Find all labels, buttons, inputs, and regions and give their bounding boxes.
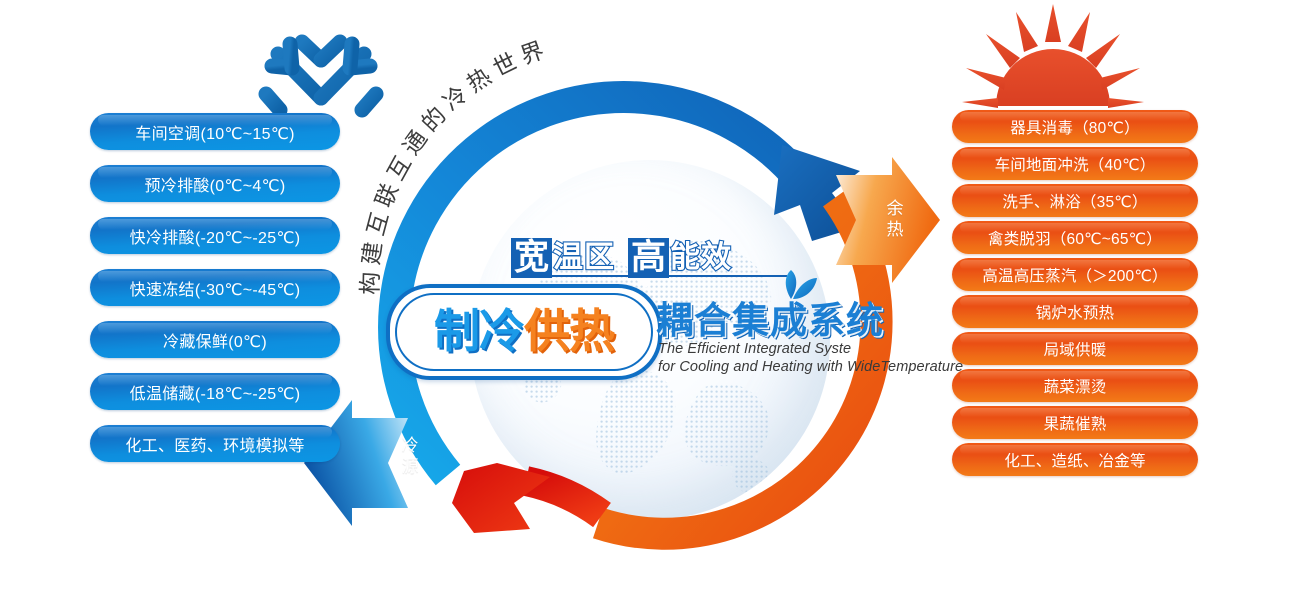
list-item[interactable]: 锅炉水预热 [952, 295, 1198, 328]
headline-text-efficiency: 能效 [669, 238, 733, 278]
pill-label: 快冷排酸(-20℃~-25℃) [130, 224, 301, 248]
badge-text: 制冷供热 [390, 288, 658, 376]
pill-label: 车间地面冲洗（40℃） [995, 153, 1156, 175]
list-item[interactable]: 预冷排酸(0℃~4℃) [90, 165, 340, 202]
headline-char-high: 高 [628, 238, 669, 278]
list-item[interactable]: 快速冻结(-30℃~-45℃) [90, 269, 340, 306]
list-item[interactable]: 车间空调(10℃~15℃) [90, 113, 340, 150]
pill-label: 洗手、淋浴（35℃） [1002, 190, 1147, 212]
pill-label: 化工、造纸、冶金等 [1004, 449, 1145, 471]
english-tagline-line2: for Cooling and Heating with WideTempera… [658, 359, 963, 375]
pill-label: 蔬菜漂烫 [1044, 375, 1107, 397]
list-item[interactable]: 局域供暖 [952, 332, 1198, 365]
pill-label: 预冷排酸(0℃~4℃) [144, 172, 285, 196]
cooling-applications-list: 车间空调(10℃~15℃) 预冷排酸(0℃~4℃) 快冷排酸(-20℃~-25℃… [90, 113, 340, 477]
cooling-heating-badge: 制冷供热 [386, 284, 662, 380]
heating-applications-list: 器具消毒（80℃） 车间地面冲洗（40℃） 洗手、淋浴（35℃） 禽类脱羽（60… [952, 110, 1198, 480]
pill-label: 器具消毒（80℃） [1010, 116, 1139, 138]
pill-label: 快速冻结(-30℃~-45℃) [130, 276, 301, 300]
list-item[interactable]: 高温高压蒸汽（＞200℃） [952, 258, 1198, 291]
pill-label: 冷藏保鲜(0℃) [163, 328, 267, 352]
pill-label: 化工、医药、环境模拟等 [125, 432, 304, 456]
list-item[interactable]: 器具消毒（80℃） [952, 110, 1198, 143]
infographic-canvas: 构建互联互通的冷热世界 [0, 0, 1300, 590]
pill-label: 低温储藏(-18℃~-25℃) [130, 380, 301, 404]
badge-text-heating: 供热 [524, 308, 614, 354]
list-item[interactable]: 蔬菜漂烫 [952, 369, 1198, 402]
headline-text-temp-zone: 温区 [552, 238, 616, 278]
list-item[interactable]: 车间地面冲洗（40℃） [952, 147, 1198, 180]
english-tagline-line1: The Efficient Integrated Syste [658, 341, 851, 357]
pill-label: 车间空调(10℃~15℃) [135, 120, 294, 144]
center-logo-block: 宽温区高能效 制冷供热 耦合集成系统 The Efficient Integra… [378, 228, 938, 400]
list-item[interactable]: 化工、造纸、冶金等 [952, 443, 1198, 476]
list-item[interactable]: 禽类脱羽（60℃~65℃） [952, 221, 1198, 254]
list-item[interactable]: 快冷排酸(-20℃~-25℃) [90, 217, 340, 254]
headline-wide-temp-high-efficiency: 宽温区高能效 [511, 234, 733, 278]
system-title: 耦合集成系统 [656, 290, 884, 344]
cold-source-arrow-label: 冷源 [399, 435, 421, 477]
pill-label: 局域供暖 [1044, 338, 1107, 360]
pill-label: 锅炉水预热 [1036, 301, 1115, 323]
pill-label: 禽类脱羽（60℃~65℃） [988, 227, 1162, 249]
list-item[interactable]: 冷藏保鲜(0℃) [90, 321, 340, 358]
sun-icon [958, 2, 1148, 114]
headline-char-wide: 宽 [511, 238, 552, 278]
pill-label: 高温高压蒸汽（＞200℃） [982, 264, 1167, 286]
list-item[interactable]: 化工、医药、环境模拟等 [90, 425, 340, 462]
badge-text-cooling: 制冷 [434, 308, 524, 354]
list-item[interactable]: 低温储藏(-18℃~-25℃) [90, 373, 340, 410]
list-item[interactable]: 果蔬催熟 [952, 406, 1198, 439]
headline-underline [511, 275, 787, 277]
list-item[interactable]: 洗手、淋浴（35℃） [952, 184, 1198, 217]
pill-label: 果蔬催熟 [1044, 412, 1107, 434]
